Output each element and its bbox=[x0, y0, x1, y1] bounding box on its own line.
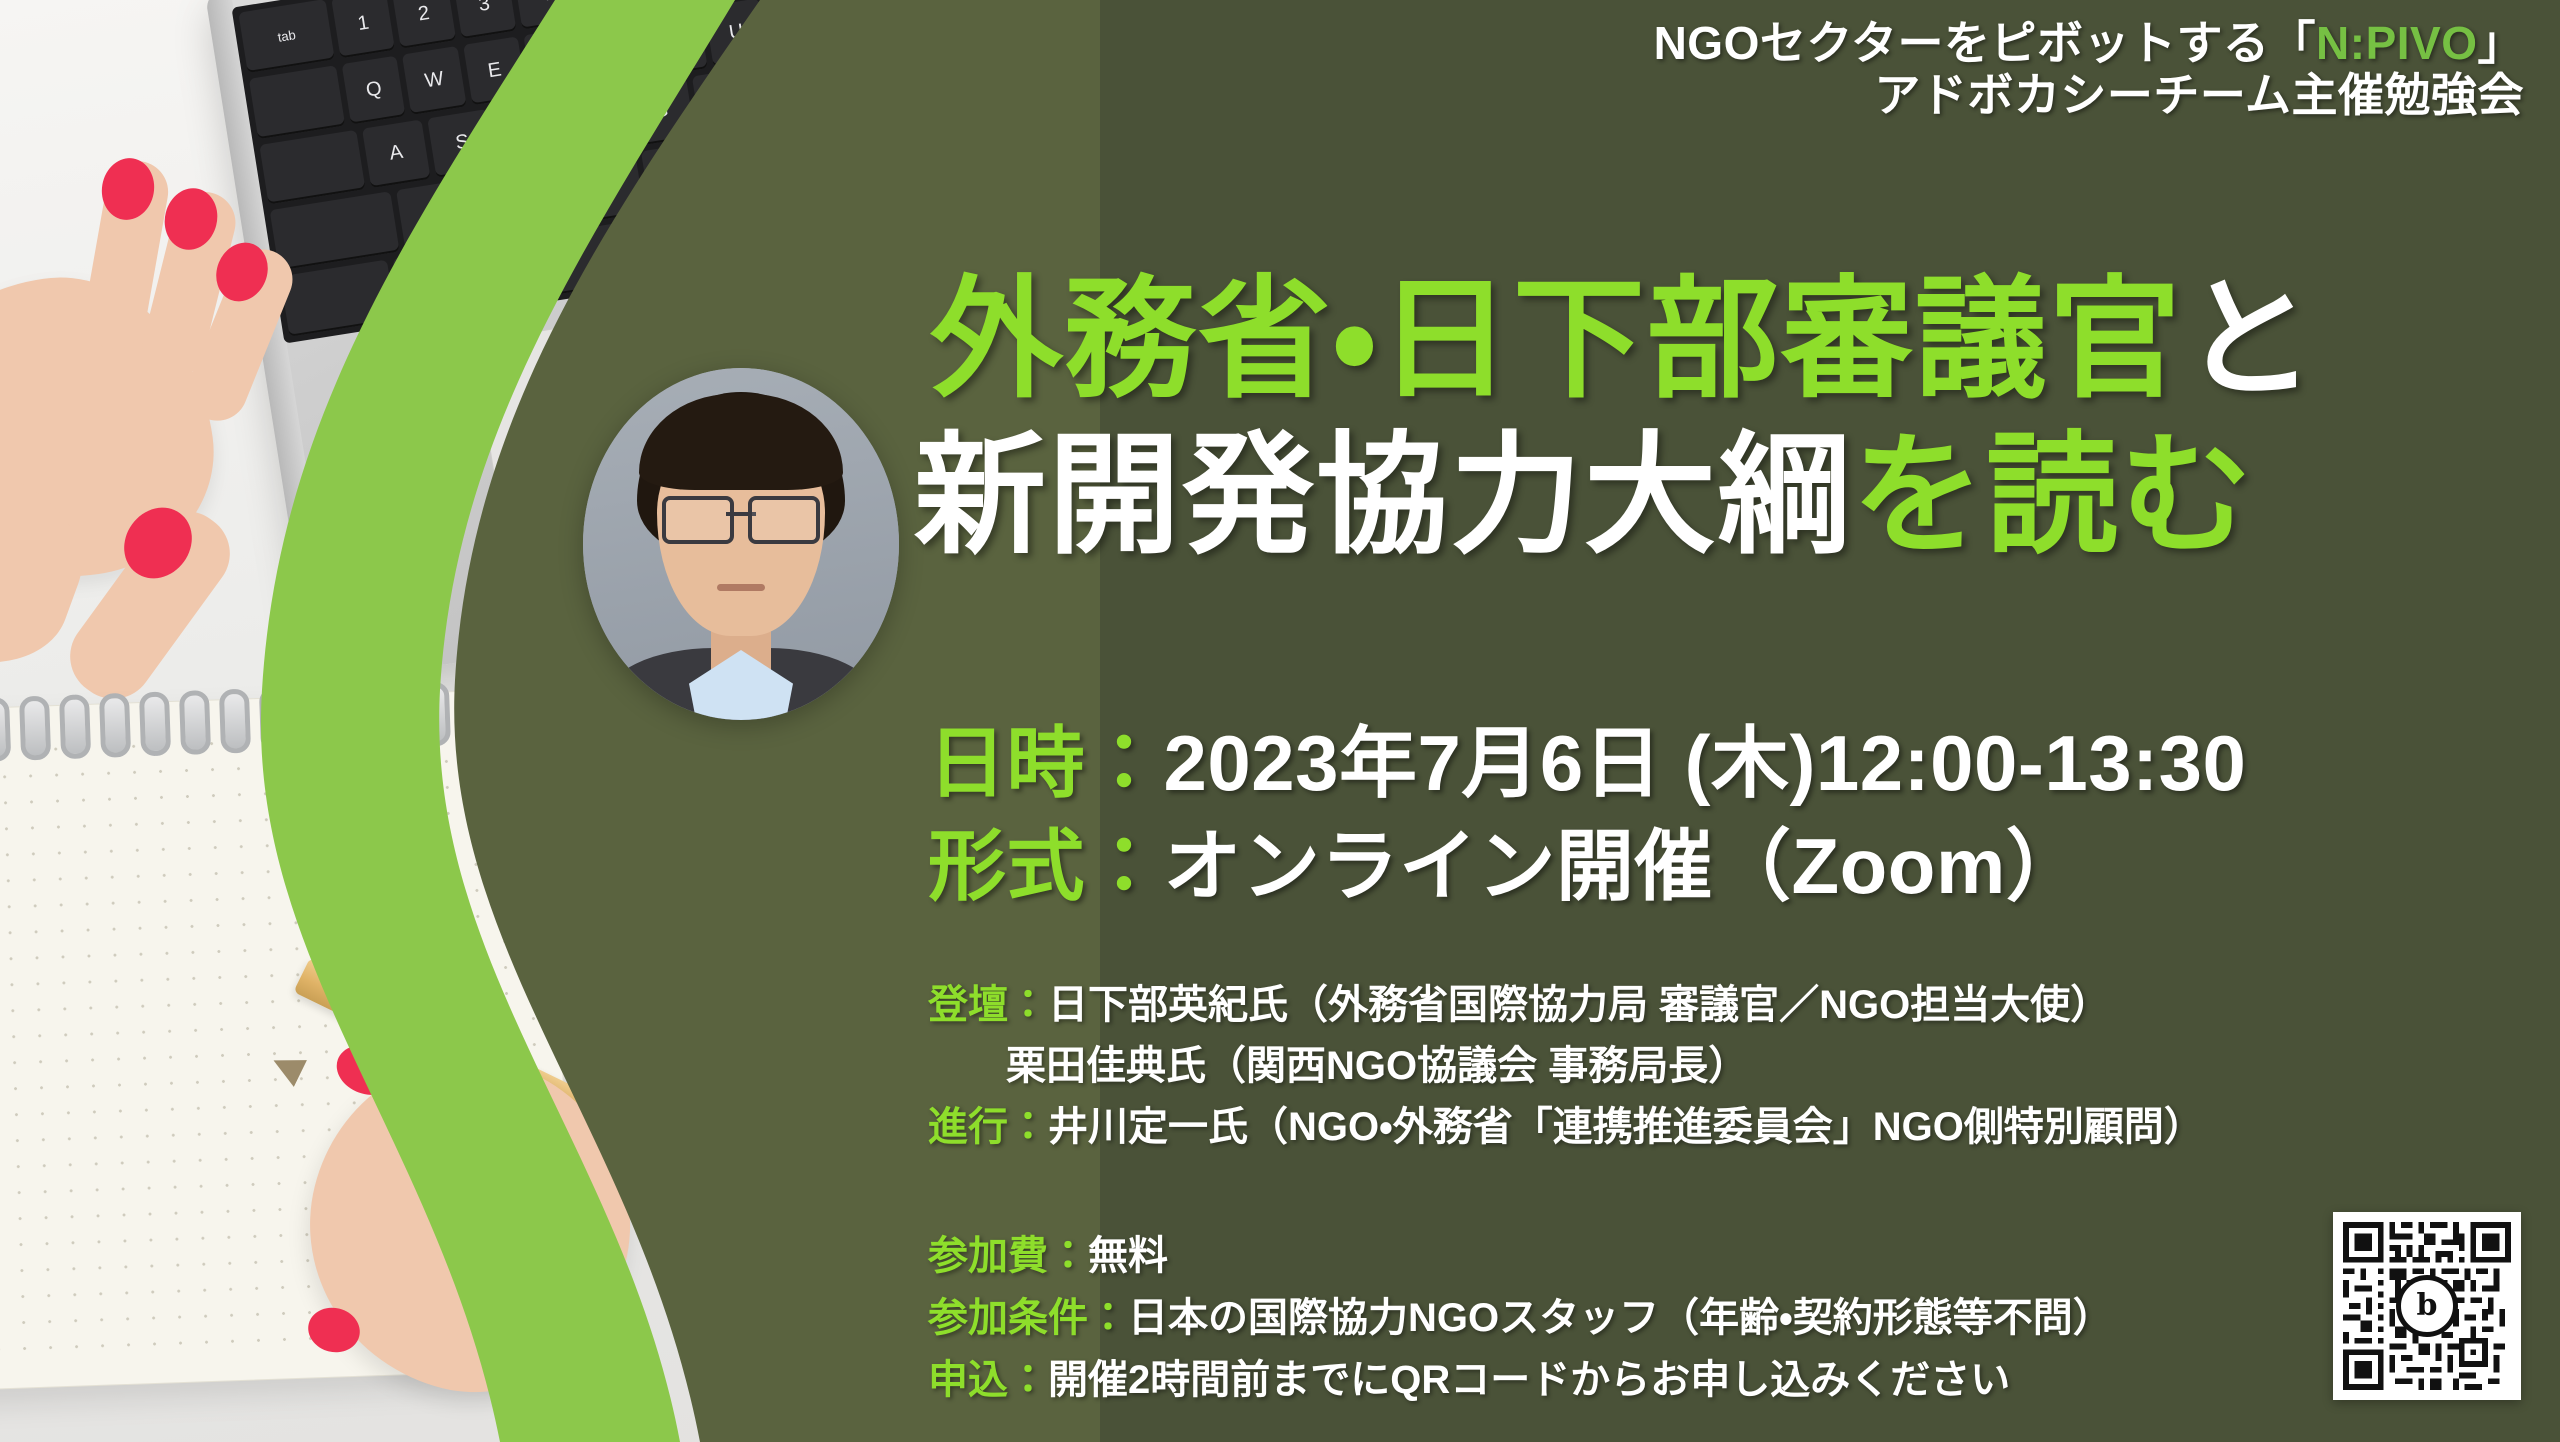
spiral-ring bbox=[59, 694, 91, 759]
spiral-ring bbox=[499, 679, 531, 744]
moderator-row: 進行：井川定一氏（NGO・外務省「連携推進委員会」NGO側特別顧問） bbox=[928, 1097, 2488, 1158]
key-3: 3 bbox=[452, 0, 516, 39]
qr-code-image[interactable]: b bbox=[2343, 1222, 2511, 1390]
spiral-ring bbox=[179, 690, 211, 755]
key-x: X bbox=[478, 166, 563, 238]
spiral-ring bbox=[339, 684, 371, 749]
page-title: 外務省・日下部審議官と 新開発協力大綱を読む bbox=[930, 262, 2530, 574]
key-e: E bbox=[463, 36, 527, 105]
title-line-1-white: と bbox=[2183, 262, 2317, 417]
key-2: 2 bbox=[392, 0, 456, 48]
title-line-2-white: 新開発協力大綱 bbox=[914, 418, 1852, 573]
datetime-value: 2023年7月6日 (木)12:00-13:30 bbox=[1164, 719, 2247, 807]
key-c: C bbox=[559, 153, 644, 225]
spiral-ring bbox=[19, 696, 51, 761]
key-f: F bbox=[560, 88, 630, 158]
key-cmd-right bbox=[865, 167, 880, 244]
spiral-ring bbox=[139, 691, 171, 756]
spiral-ring bbox=[299, 686, 331, 751]
photo-collage: tab 1 2 3 4 5 6 7 8 9 0 Q W E R bbox=[0, 0, 880, 1442]
format-label: 形式： bbox=[928, 822, 1164, 910]
spiral-ring bbox=[539, 677, 571, 742]
key-z: Z bbox=[397, 179, 482, 251]
key-i: I bbox=[765, 0, 829, 57]
key-g: G bbox=[626, 77, 696, 147]
key-b: B bbox=[722, 127, 807, 199]
moderator-1-name: 井川定一氏（NGO・外務省「連携推進委員会」NGO側特別顧問） bbox=[1048, 1105, 2204, 1149]
glasses-icon bbox=[662, 496, 820, 536]
key-5: 5 bbox=[573, 0, 637, 20]
pencil-tip bbox=[267, 1047, 307, 1087]
header-line-1-suffix: 」 bbox=[2478, 17, 2525, 69]
glasses-lens-right bbox=[748, 496, 820, 544]
speaker-portrait bbox=[583, 368, 899, 720]
event-series-header: NGOセクターをピボットする「N:PIVO」 アドボカシーチーム主催勉強会 bbox=[1654, 18, 2524, 121]
bitly-logo-icon: b bbox=[2396, 1275, 2458, 1337]
eligibility-row: 参加条件：日本の国際協力NGOスタッフ（年齢・契約形態等不問） bbox=[928, 1287, 2328, 1349]
participation-terms: 参加費：無料 参加条件：日本の国際協力NGOスタッフ（年齢・契約形態等不問） 申… bbox=[928, 1225, 2328, 1411]
title-line-1: 外務省・日下部審議官と bbox=[930, 262, 2530, 418]
speaker-2-name: 栗田佳典氏（関西NGO協議会 事務局長） bbox=[928, 1036, 2488, 1097]
spiral-ring bbox=[459, 680, 491, 745]
spiral-ring bbox=[0, 697, 11, 762]
key-o: O bbox=[825, 0, 880, 47]
speaker-row-2: 栗田佳典氏（関西NGO協議会 事務局長） bbox=[928, 1036, 2488, 1097]
datetime-label: 日時： bbox=[928, 719, 1164, 807]
speakers-block: 登壇：日下部英紀氏（外務省国際協力局 審議官／NGO担当大使） 栗田佳典氏（関西… bbox=[928, 975, 2488, 1157]
event-datetime-row: 日時：2023年7月6日 (木)12:00-13:30 bbox=[928, 712, 2528, 815]
key-4: 4 bbox=[513, 0, 577, 29]
speaker-label: 登壇： bbox=[928, 983, 1048, 1027]
event-meta: 日時：2023年7月6日 (木)12:00-13:30 形式：オンライン開催（Z… bbox=[928, 712, 2528, 918]
key-j: J bbox=[758, 56, 828, 126]
moderator-label: 進行： bbox=[928, 1105, 1048, 1149]
key-n: N bbox=[804, 114, 880, 186]
title-line-2-green: を読む bbox=[1852, 418, 2254, 573]
spiral-ring bbox=[219, 689, 251, 754]
header-line-1-prefix: NGOセクターをピボットする「 bbox=[1654, 17, 2316, 69]
key-v: V bbox=[641, 140, 726, 212]
key-r: R bbox=[523, 27, 587, 96]
spiral-ring bbox=[419, 682, 451, 747]
format-value: オンライン開催（Zoom） bbox=[1164, 822, 2085, 910]
fee-row: 参加費：無料 bbox=[928, 1225, 2328, 1287]
key-w: W bbox=[402, 46, 466, 115]
key-s: S bbox=[428, 109, 498, 179]
header-line-1: NGOセクターをピボットする「N:PIVO」 bbox=[1654, 18, 2524, 70]
fee-value: 無料 bbox=[1088, 1234, 1168, 1278]
eligibility-label: 参加条件： bbox=[928, 1296, 1128, 1340]
spiral-ring bbox=[379, 683, 411, 748]
key-k: K bbox=[824, 46, 880, 116]
spiral-ring bbox=[99, 693, 131, 758]
registration-qr-code[interactable]: b bbox=[2333, 1212, 2521, 1400]
eligibility-value: 日本の国際協力NGOスタッフ（年齢・契約形態等不問） bbox=[1128, 1296, 2113, 1340]
poster-root: tab 1 2 3 4 5 6 7 8 9 0 Q W E R bbox=[0, 0, 2560, 1442]
title-line-1-green: 外務省・日下部審議官 bbox=[930, 262, 2183, 417]
spiral-ring bbox=[259, 687, 291, 752]
hand-on-keyboard bbox=[0, 30, 400, 730]
hand-writing bbox=[180, 990, 740, 1442]
key-y: Y bbox=[644, 8, 708, 77]
speaker-row-1: 登壇：日下部英紀氏（外務省国際協力局 審議官／NGO担当大使） bbox=[928, 975, 2488, 1036]
key-h: H bbox=[692, 67, 762, 137]
portrait-mouth bbox=[717, 584, 765, 591]
header-line-2: アドボカシーチーム主催勉強会 bbox=[1654, 70, 2524, 122]
glasses-lens-left bbox=[662, 496, 734, 544]
key-u: U bbox=[704, 0, 768, 67]
brand-name-npivo: N:PIVO bbox=[2316, 17, 2477, 69]
key-t: T bbox=[584, 17, 648, 86]
key-d: D bbox=[494, 98, 564, 168]
apply-value: 開催2時間前までにQRコードからお申し込みください bbox=[1048, 1358, 2010, 1402]
fee-label: 参加費： bbox=[928, 1234, 1088, 1278]
event-format-row: 形式：オンライン開催（Zoom） bbox=[928, 815, 2528, 918]
title-line-2: 新開発協力大綱を読む bbox=[914, 418, 2530, 574]
apply-row: 申込：開催2時間前までにQRコードからお申し込みください bbox=[928, 1349, 2328, 1411]
speaker-1-name: 日下部英紀氏（外務省国際協力局 審議官／NGO担当大使） bbox=[1048, 983, 2110, 1027]
apply-label: 申込： bbox=[928, 1358, 1048, 1402]
